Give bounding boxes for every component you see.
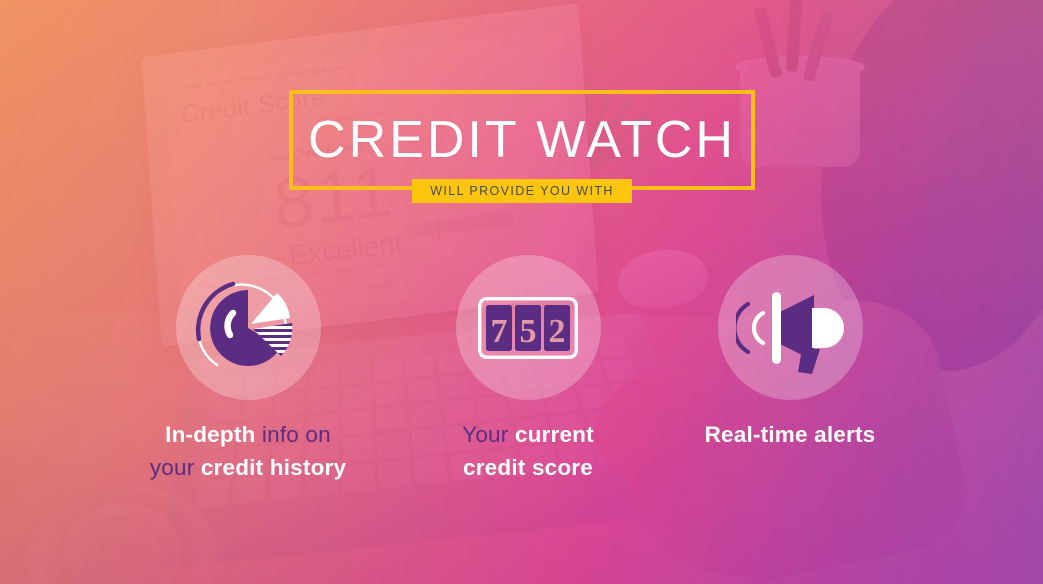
feature-icon-circle: 7 5 2 xyxy=(456,255,601,400)
feature-label-part-light: Your xyxy=(462,422,508,447)
pie-chart-icon xyxy=(189,269,307,387)
score-digit-2: 5 xyxy=(520,313,537,350)
subtitle-text: WILL PROVIDE YOU WITH xyxy=(430,184,614,198)
score-digit-1: 7 xyxy=(491,313,508,350)
feature-icon-circle xyxy=(176,255,321,400)
credit-watch-promo-slide: Credit Report My Score Monitoring Alerts… xyxy=(0,0,1043,584)
feature-list: In-depth info on your credit history 7 5… xyxy=(0,255,1043,485)
feature-item-credit-score: 7 5 2 Your current credit score xyxy=(378,255,678,485)
megaphone-icon xyxy=(736,282,844,374)
feature-label-part-bold: current xyxy=(515,422,594,447)
feature-label-part-bold: In-depth xyxy=(165,422,255,447)
feature-label-part-bold: Real-time alerts xyxy=(705,422,876,447)
feature-label-credit-history: In-depth info on your credit history xyxy=(98,418,398,485)
feature-item-alerts: Real-time alerts xyxy=(640,255,940,451)
feature-label-alerts: Real-time alerts xyxy=(640,418,940,451)
feature-label-part-bold-2: credit history xyxy=(201,455,346,480)
feature-label-part-light: info on xyxy=(262,422,331,447)
feature-icon-circle xyxy=(718,255,863,400)
feature-label-part-light-2: your xyxy=(150,455,195,480)
feature-label-part-bold-2: credit score xyxy=(463,455,593,480)
page-title: CREDIT WATCH xyxy=(289,90,755,190)
score-digit-3: 2 xyxy=(549,313,566,350)
subtitle-band: WILL PROVIDE YOU WITH xyxy=(412,179,632,203)
credit-score-digits-icon: 7 5 2 xyxy=(478,297,578,359)
feature-item-credit-history: In-depth info on your credit history xyxy=(98,255,398,485)
feature-label-credit-score: Your current credit score xyxy=(378,418,678,485)
